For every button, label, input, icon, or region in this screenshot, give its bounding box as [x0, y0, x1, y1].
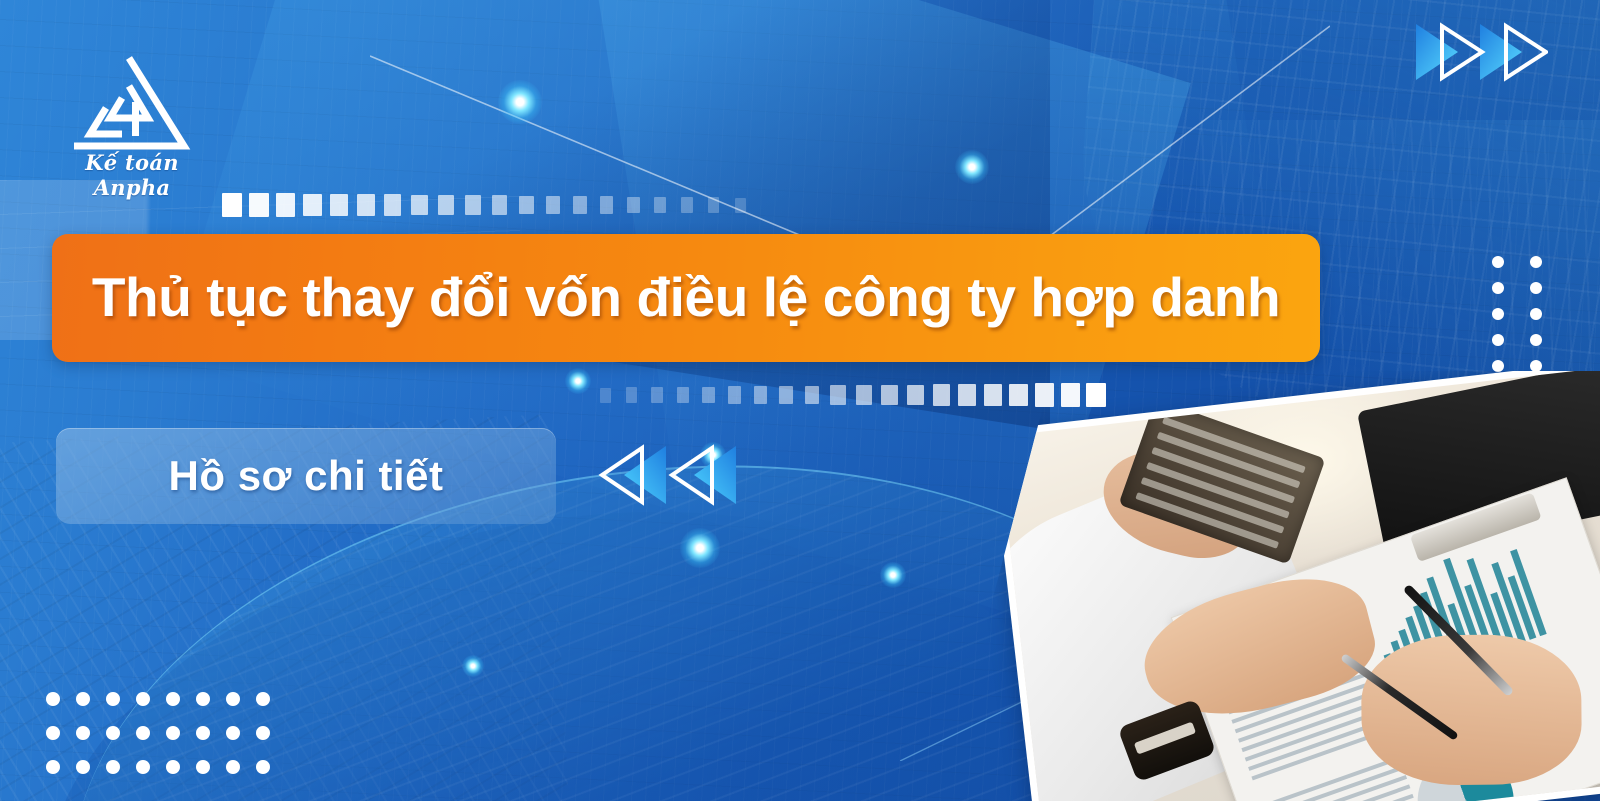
- grid-dot: [76, 726, 90, 740]
- square-strip-top: [222, 192, 762, 218]
- double-chevron-left-icon: [588, 444, 738, 506]
- sparkle-dot-low: [462, 655, 484, 677]
- sparkle-dot-mid: [565, 368, 591, 394]
- subtitle-text: Hồ sơ chi tiết: [169, 452, 444, 500]
- square-tick: [881, 385, 897, 405]
- sparkle-dot-tower: [955, 150, 989, 184]
- sparkle-dot-arc: [680, 528, 720, 568]
- square-tick: [830, 385, 845, 404]
- sparkle-dot-upper: [498, 80, 542, 124]
- grid-dot: [226, 726, 240, 740]
- square-tick: [384, 194, 401, 215]
- grid-dot: [166, 692, 180, 706]
- grid-dot: [106, 726, 120, 740]
- square-tick: [519, 196, 534, 215]
- square-tick: [681, 197, 693, 213]
- brand-name: Kế toán Anpha: [52, 150, 212, 200]
- square-tick: [708, 197, 719, 212]
- grid-dot: [256, 726, 270, 740]
- square-strip-middle: [600, 382, 1112, 408]
- grid-dot: [1492, 282, 1504, 294]
- sparkle-dot-arc-right: [880, 562, 906, 588]
- square-tick: [600, 196, 613, 213]
- grid-dot: [1530, 334, 1542, 346]
- anpha-triangle-logo-icon: [44, 42, 214, 154]
- grid-dot: [46, 726, 60, 740]
- grid-dot: [226, 692, 240, 706]
- grid-dot: [166, 726, 180, 740]
- square-tick: [303, 194, 322, 217]
- square-tick: [600, 388, 611, 403]
- square-tick: [754, 386, 768, 404]
- grid-dot: [76, 692, 90, 706]
- square-tick: [249, 193, 269, 217]
- grid-dot: [136, 692, 150, 706]
- square-tick: [958, 384, 976, 406]
- square-tick: [357, 194, 375, 216]
- grid-dot: [166, 760, 180, 774]
- grid-dot: [226, 760, 240, 774]
- grid-dot: [196, 726, 210, 740]
- grid-dot: [46, 760, 60, 774]
- square-tick: [856, 385, 872, 405]
- grid-dot: [256, 760, 270, 774]
- grid-dot: [196, 760, 210, 774]
- square-tick: [411, 195, 428, 216]
- square-tick: [728, 386, 741, 403]
- grid-dot: [1530, 256, 1542, 268]
- double-chevron-right-icon: [1408, 22, 1548, 82]
- page-title: Thủ tục thay đổi vốn điều lệ công ty hợp…: [92, 269, 1280, 327]
- square-tick: [779, 386, 793, 404]
- grid-dot: [136, 726, 150, 740]
- square-tick: [276, 193, 295, 216]
- square-tick: [573, 196, 587, 214]
- grid-dot: [136, 760, 150, 774]
- brand-logo[interactable]: Kế toán Anpha: [44, 42, 214, 162]
- grid-dot: [1492, 308, 1504, 320]
- hero-photo: [940, 371, 1600, 801]
- photo-frame: [990, 371, 1600, 801]
- square-tick: [933, 384, 950, 405]
- square-tick: [222, 193, 242, 217]
- grid-dot: [1530, 282, 1542, 294]
- square-tick: [907, 385, 924, 406]
- square-tick: [677, 387, 689, 403]
- square-tick: [651, 387, 663, 403]
- square-tick: [654, 197, 666, 213]
- photo-content: [997, 371, 1600, 801]
- square-tick: [702, 387, 715, 404]
- grid-dot: [1530, 308, 1542, 320]
- square-tick: [735, 198, 746, 213]
- grid-dot: [106, 760, 120, 774]
- dot-grid-bottom-left: [46, 692, 270, 774]
- square-tick: [984, 384, 1002, 406]
- grid-dot: [1492, 334, 1504, 346]
- square-tick: [627, 197, 640, 214]
- grid-dot: [1492, 256, 1504, 268]
- square-tick: [626, 387, 637, 402]
- grid-dot: [1492, 360, 1504, 372]
- square-tick: [546, 196, 560, 214]
- square-tick: [330, 194, 348, 216]
- square-tick: [805, 386, 820, 405]
- grid-dot: [46, 692, 60, 706]
- subtitle-pill: Hồ sơ chi tiết: [56, 428, 556, 524]
- grid-dot: [1530, 360, 1542, 372]
- article-banner: Kế toán Anpha Thủ tục thay đổi vốn điều …: [0, 0, 1600, 801]
- square-tick: [1009, 384, 1028, 407]
- title-banner: Thủ tục thay đổi vốn điều lệ công ty hợp…: [52, 234, 1320, 362]
- grid-dot: [256, 692, 270, 706]
- square-tick: [492, 195, 507, 214]
- grid-dot: [196, 692, 210, 706]
- square-tick: [465, 195, 481, 215]
- grid-dot: [76, 760, 90, 774]
- square-tick: [438, 195, 454, 215]
- grid-dot: [106, 692, 120, 706]
